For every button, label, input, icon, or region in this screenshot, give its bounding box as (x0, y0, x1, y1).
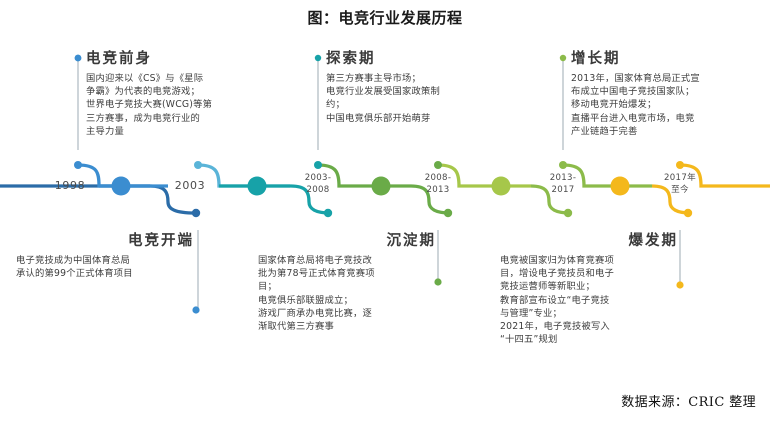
rise-dot-1998 (74, 161, 82, 169)
rise-dot-2003 (194, 161, 202, 169)
block-exploration-period: 探索期 第三方赛事主导市场； 电竞行业发展受国家政策制 约； 中国电竞俱乐部开始… (326, 50, 526, 125)
dip-dot-1 (192, 209, 200, 217)
marker-circle-1 (112, 177, 131, 196)
marker-circle-2 (248, 177, 267, 196)
block-body: 2013年，国家体育总局正式宣 布成立中国电子竞技国家队； 移动电竞开始爆发； … (571, 72, 770, 138)
block-body: 电子竞技成为中国体育总局 承认的第99个正式体育项目 (16, 254, 194, 280)
block-title: 探索期 (326, 50, 526, 69)
year-label-2003: 2003 (164, 179, 216, 192)
rise-dot-2008-2013 (434, 161, 442, 169)
rise-dot-2017-now (676, 161, 684, 169)
block-body: 国家体育总局将电子竞技改 批为第78号正式体育竞赛项 目； 电竞俱乐部联盟成立；… (258, 254, 436, 333)
block-precipitation-period: 沉淀期 国家体育总局将电子竞技改 批为第78号正式体育竞赛项 目； 电竞俱乐部联… (258, 232, 436, 333)
marker-circle-5 (611, 177, 630, 196)
stem-dot-top-3 (560, 55, 566, 61)
block-body: 国内迎来以《CS》与《星际 争霸》为代表的电竞游戏； 世界电子竞技大赛(WCG)… (86, 72, 276, 138)
block-explosion-period: 爆发期 电竞被国家归为体育竞赛项 目，增设电子竞技员和电子 竞技运营师等新职业；… (500, 232, 678, 346)
infographic-canvas: 图：电竞行业发展历程 (0, 0, 770, 422)
stem-dot-bottom-1 (192, 306, 199, 313)
block-title: 沉淀期 (258, 232, 436, 251)
year-label-2008-2013: 2008- 2013 (412, 172, 464, 196)
marker-circle-3 (372, 177, 391, 196)
rise-dot-2003-2008 (314, 161, 322, 169)
source-note: 数据来源：CRIC 整理 (621, 391, 756, 410)
year-label-2003-2008: 2003- 2008 (292, 172, 344, 196)
block-title: 增长期 (571, 50, 770, 69)
dip-dot-2 (324, 209, 332, 217)
dip-dot-3 (444, 209, 452, 217)
block-growth-period: 增长期 2013年，国家体育总局正式宣 布成立中国电子竞技国家队； 移动电竞开始… (571, 50, 770, 138)
block-esports-origin: 电竞前身 国内迎来以《CS》与《星际 争霸》为代表的电竞游戏； 世界电子竞技大赛… (86, 50, 276, 138)
year-label-2013-2017: 2013- 2017 (537, 172, 589, 196)
block-title: 电竞前身 (86, 50, 276, 69)
block-title: 爆发期 (500, 232, 678, 251)
year-label-2017-now: 2017年 至今 (654, 172, 706, 196)
stem-dot-top-1 (75, 55, 81, 61)
block-body: 第三方赛事主导市场； 电竞行业发展受国家政策制 约； 中国电竞俱乐部开始萌芽 (326, 72, 526, 125)
stem-dot-top-2 (315, 55, 321, 61)
dip-dot-4 (564, 209, 572, 217)
block-title: 电竞开端 (16, 232, 194, 251)
dip-dot-5 (684, 209, 692, 217)
rise-dot-2013-2017 (559, 161, 567, 169)
block-esports-beginning: 电竞开端 电子竞技成为中国体育总局 承认的第99个正式体育项目 (16, 232, 194, 280)
marker-circle-4 (492, 177, 511, 196)
block-body: 电竞被国家归为体育竞赛项 目，增设电子竞技员和电子 竞技运营师等新职业； 教育部… (500, 254, 678, 346)
year-label-1998: 1998 (44, 179, 96, 192)
